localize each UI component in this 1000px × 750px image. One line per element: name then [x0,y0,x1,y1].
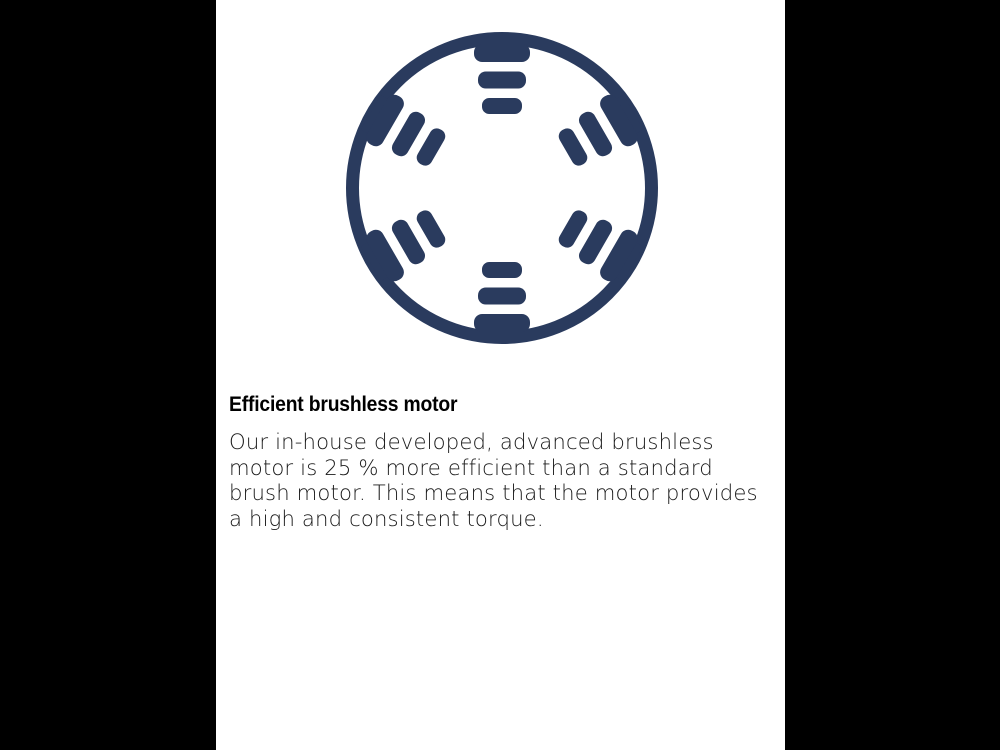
feature-description: Our in-house developed, advanced brushle… [229,430,766,532]
text-block: Efficient brushless motor Our in-house d… [229,392,774,532]
stator-bar-s4-1 [474,314,530,332]
stator-bar-s1-2 [478,72,526,89]
feature-heading: Efficient brushless motor [229,392,730,418]
content-panel: Efficient brushless motor Our in-house d… [216,0,785,750]
brushless-motor-stator-icon [332,18,672,358]
stator-bar-s4-3 [482,262,522,278]
screenshot-canvas: Efficient brushless motor Our in-house d… [0,0,1000,750]
stator-bar-s4-2 [478,288,526,305]
motor-icon-container [332,18,672,358]
stator-bar-s1-3 [482,98,522,114]
stator-bar-s1-1 [474,44,530,62]
